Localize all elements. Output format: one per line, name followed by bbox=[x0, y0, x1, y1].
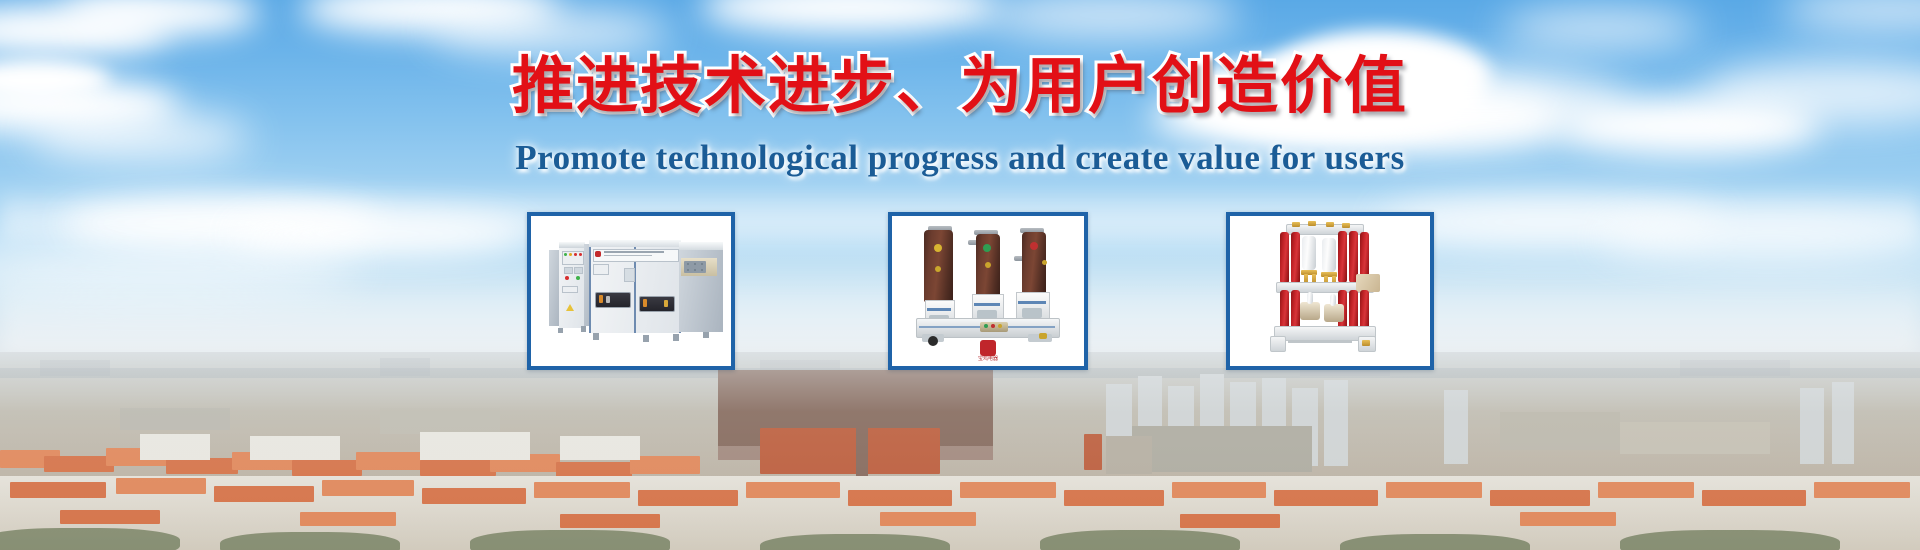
red-roof bbox=[1814, 482, 1910, 498]
terminal-lug bbox=[1292, 222, 1300, 227]
cloud bbox=[980, 0, 1240, 38]
promo-banner: 推进技术进步、为用户创造价值 Promote technological pro… bbox=[0, 0, 1920, 550]
arc-chute bbox=[1356, 274, 1380, 292]
apartment-block bbox=[250, 436, 340, 460]
red-insulator bbox=[1338, 231, 1347, 283]
red-roof bbox=[746, 482, 840, 498]
cabinet-leg bbox=[703, 332, 709, 338]
pole-badge bbox=[1042, 260, 1047, 265]
push-rod bbox=[1307, 292, 1313, 304]
red-roof bbox=[214, 486, 314, 502]
apartment-block bbox=[420, 432, 530, 460]
manufacturer-logo-text: 宝鸡电器 bbox=[964, 356, 1012, 362]
indicator-lamp bbox=[579, 253, 582, 256]
mounting-foot bbox=[1270, 336, 1286, 352]
red-roof bbox=[1180, 514, 1280, 528]
red-roof bbox=[560, 514, 660, 528]
red-sign bbox=[1084, 434, 1102, 470]
earth-terminal bbox=[1362, 340, 1370, 346]
red-roof bbox=[422, 488, 526, 504]
pole-badge bbox=[935, 266, 941, 272]
pole-badge bbox=[1030, 242, 1038, 250]
tree-canopy bbox=[760, 534, 950, 550]
red-roof bbox=[1598, 482, 1694, 498]
red-roof bbox=[534, 482, 630, 498]
high-rise bbox=[1800, 388, 1824, 464]
red-roof bbox=[300, 512, 396, 526]
cloud bbox=[700, 0, 1000, 34]
product-2-image: 宝鸡电器 bbox=[892, 216, 1084, 366]
red-roof bbox=[60, 510, 160, 524]
red-roof bbox=[638, 490, 738, 506]
red-roof bbox=[420, 460, 496, 476]
window-indicator bbox=[643, 299, 647, 307]
window-indicator bbox=[599, 295, 603, 303]
indicator-lamp bbox=[576, 276, 580, 280]
terminal-lug bbox=[1326, 222, 1334, 227]
red-roof bbox=[1274, 490, 1378, 506]
bolt bbox=[694, 263, 696, 265]
switch bbox=[574, 267, 583, 274]
tree-canopy bbox=[1620, 530, 1840, 550]
cabinet-leg bbox=[673, 334, 679, 341]
red-insulator bbox=[1280, 232, 1289, 284]
tree-canopy bbox=[1040, 530, 1240, 550]
building-roof bbox=[760, 428, 940, 474]
page-title: 推进技术进步、为用户创造价值 bbox=[0, 50, 1920, 122]
door-label bbox=[593, 264, 609, 275]
red-roof bbox=[848, 490, 952, 506]
vacuum-interrupter bbox=[1302, 236, 1316, 270]
commercial-block bbox=[1500, 412, 1620, 450]
red-roof bbox=[44, 456, 114, 472]
red-insulator bbox=[1291, 232, 1300, 284]
indicator-lamp bbox=[569, 253, 572, 256]
housing-mechanism bbox=[1022, 308, 1042, 318]
terminal-lug bbox=[1308, 221, 1316, 226]
brand-text-line bbox=[604, 255, 652, 256]
cabinet-edge bbox=[589, 247, 591, 333]
red-roof bbox=[356, 452, 426, 470]
apartment-block bbox=[140, 434, 210, 460]
cityscape-background bbox=[0, 352, 1920, 550]
cloud bbox=[430, 10, 670, 54]
page-subtitle: Promote technological progress and creat… bbox=[0, 136, 1920, 180]
housing-label bbox=[974, 303, 1000, 306]
base-rail bbox=[1288, 340, 1352, 343]
indicator-lamp bbox=[565, 276, 569, 280]
tree-canopy bbox=[470, 530, 670, 550]
commercial-block bbox=[1106, 436, 1152, 474]
pole-badge bbox=[983, 244, 991, 252]
frame-connector bbox=[1039, 333, 1047, 339]
commercial-block bbox=[1620, 422, 1770, 454]
commercial-block bbox=[380, 408, 500, 434]
high-rise bbox=[1324, 380, 1348, 466]
warning-triangle-icon bbox=[566, 304, 574, 311]
terminal-lamp bbox=[998, 324, 1002, 328]
cabinet-leg bbox=[643, 335, 649, 342]
bolt bbox=[701, 263, 703, 265]
red-roof bbox=[1172, 482, 1266, 498]
housing-label bbox=[1018, 301, 1046, 304]
pole-badge bbox=[934, 244, 942, 252]
switch bbox=[564, 267, 573, 274]
window-indicator bbox=[664, 300, 668, 307]
terminal-lamp bbox=[991, 324, 995, 328]
commercial-block bbox=[1132, 426, 1312, 472]
bolt bbox=[687, 269, 689, 271]
pole-badge bbox=[985, 262, 991, 268]
terminal-lug bbox=[1342, 223, 1350, 228]
red-roof bbox=[630, 456, 700, 474]
tree-canopy bbox=[1340, 534, 1530, 550]
window-indicator bbox=[606, 296, 610, 303]
red-roof bbox=[10, 482, 106, 498]
red-roof bbox=[1490, 490, 1590, 506]
cabinet-leg bbox=[581, 326, 586, 332]
bolt bbox=[701, 269, 703, 271]
cabinet-top bbox=[559, 242, 585, 248]
red-roof bbox=[1064, 490, 1164, 506]
chimney bbox=[856, 408, 868, 478]
nameplate bbox=[562, 286, 578, 293]
tree-canopy bbox=[0, 528, 180, 550]
product-panel-3[interactable] bbox=[1226, 212, 1434, 370]
red-roof bbox=[1386, 482, 1482, 498]
red-roof bbox=[1520, 512, 1616, 526]
red-roof bbox=[960, 482, 1056, 498]
tree-canopy bbox=[220, 532, 400, 550]
indicator-lamp bbox=[564, 253, 567, 256]
product-panel-1[interactable] bbox=[527, 212, 735, 370]
red-insulator bbox=[1360, 290, 1369, 330]
commercial-block bbox=[120, 408, 230, 430]
bolt bbox=[694, 269, 696, 271]
cloud bbox=[1500, 10, 1700, 46]
red-roof bbox=[322, 480, 414, 496]
high-rise bbox=[1444, 390, 1468, 464]
cabinet-leg bbox=[593, 333, 599, 340]
vacuum-interrupter bbox=[1322, 238, 1336, 272]
brand-logo-icon bbox=[595, 251, 601, 257]
door-vent bbox=[624, 268, 635, 282]
housing-label bbox=[927, 308, 951, 311]
push-rod bbox=[1330, 294, 1336, 306]
terminal-lamp bbox=[984, 324, 988, 328]
apartment-block bbox=[560, 436, 640, 460]
product-1-image bbox=[531, 216, 731, 366]
red-roof bbox=[880, 512, 976, 526]
red-roof bbox=[116, 478, 206, 494]
operating-coil bbox=[1300, 302, 1320, 320]
operating-coil bbox=[1324, 304, 1344, 322]
brand-text-line bbox=[604, 251, 664, 253]
product-panel-2[interactable]: 宝鸡电器 bbox=[888, 212, 1088, 370]
cloud bbox=[1780, 0, 1920, 30]
red-roof bbox=[1702, 490, 1806, 506]
indicator-lamp bbox=[574, 253, 577, 256]
cabinet-leg bbox=[558, 328, 563, 333]
bolt bbox=[687, 263, 689, 265]
product-panel-row: 宝鸡电器 bbox=[0, 212, 1920, 372]
frame-bushing bbox=[928, 336, 938, 346]
red-roof bbox=[166, 458, 238, 474]
high-rise bbox=[1832, 382, 1854, 464]
manufacturer-logo-mark bbox=[980, 340, 996, 356]
red-roof bbox=[292, 460, 362, 476]
product-3-image bbox=[1230, 216, 1430, 366]
manufacturer-logo: 宝鸡电器 bbox=[964, 340, 1012, 362]
